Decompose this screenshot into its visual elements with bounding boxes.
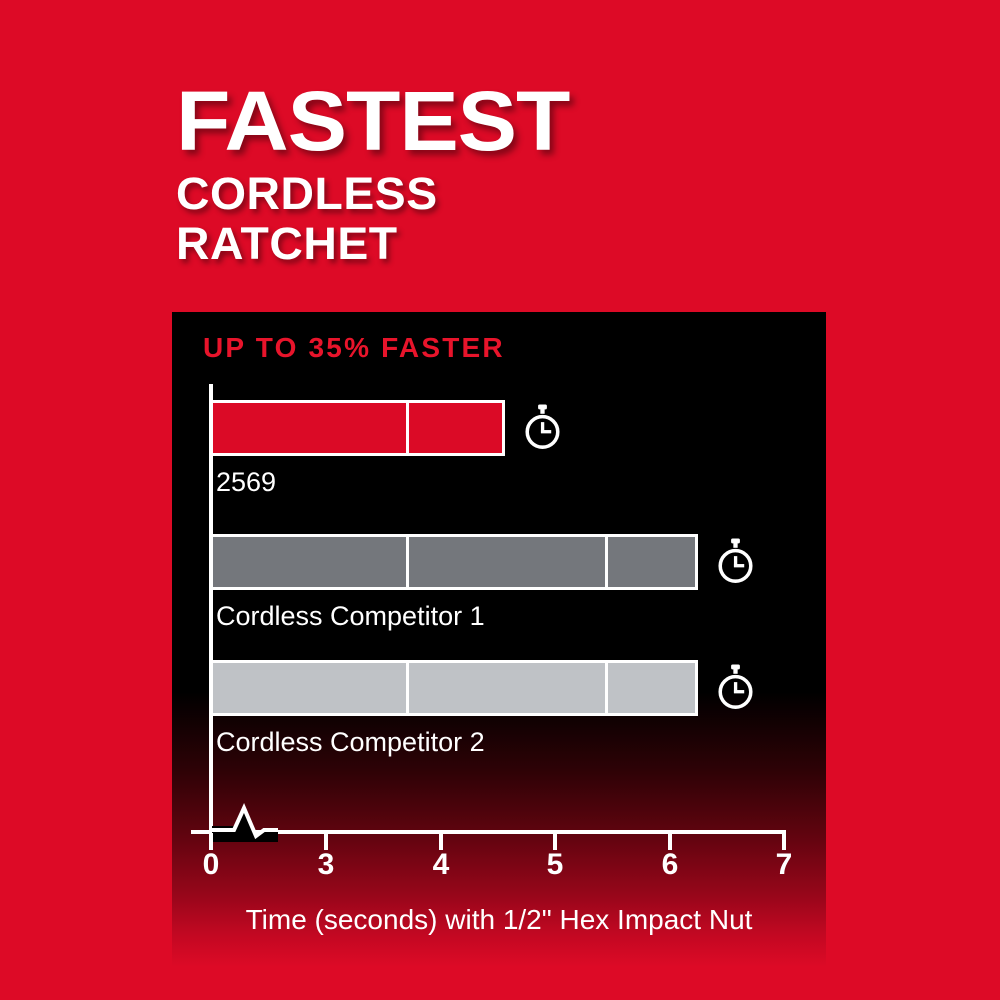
bar-segment bbox=[406, 403, 502, 453]
chart-caption: Time (seconds) with 1/2" Hex Impact Nut bbox=[172, 904, 826, 936]
stopwatch-icon bbox=[712, 538, 759, 585]
x-tick-label-3: 3 bbox=[318, 848, 335, 882]
x-tick-label-6: 6 bbox=[662, 848, 679, 882]
bar-cordless-competitor-1 bbox=[210, 534, 698, 590]
bar-label-2: Cordless Competitor 2 bbox=[216, 727, 485, 758]
x-tick-label-0: 0 bbox=[203, 848, 220, 882]
x-tick-label-4: 4 bbox=[433, 848, 450, 882]
stopwatch-icon bbox=[712, 664, 759, 711]
x-tick-label-7: 7 bbox=[776, 848, 793, 882]
bar-segment bbox=[213, 663, 406, 713]
chart-title: UP TO 35% FASTER bbox=[203, 332, 505, 364]
headline-line-3: RATCHET bbox=[176, 219, 897, 269]
bar-cordless-competitor-2 bbox=[210, 660, 698, 716]
stopwatch-icon bbox=[519, 404, 566, 451]
bar-2569 bbox=[210, 400, 505, 456]
x-axis-line bbox=[191, 830, 786, 834]
headline-line-2: CORDLESS bbox=[176, 169, 897, 219]
bar-segment bbox=[605, 663, 695, 713]
bar-segment bbox=[406, 537, 605, 587]
bar-segment bbox=[406, 663, 605, 713]
headline-block: FASTEST CORDLESS RATCHET bbox=[176, 86, 876, 269]
bar-segment bbox=[213, 537, 406, 587]
bar-segment bbox=[605, 537, 695, 587]
x-tick-label-5: 5 bbox=[547, 848, 564, 882]
headline-line-1: FASTEST bbox=[176, 86, 918, 157]
bar-label-1: Cordless Competitor 1 bbox=[216, 601, 485, 632]
bar-segment bbox=[213, 403, 406, 453]
axis-break-icon bbox=[212, 800, 278, 842]
promo-graphic: FASTEST CORDLESS RATCHET UP TO 35% FASTE… bbox=[0, 0, 1000, 1000]
chart-panel: UP TO 35% FASTER 0 3 4 5 6 7 bbox=[172, 312, 826, 967]
bar-label-0: 2569 bbox=[216, 467, 276, 498]
